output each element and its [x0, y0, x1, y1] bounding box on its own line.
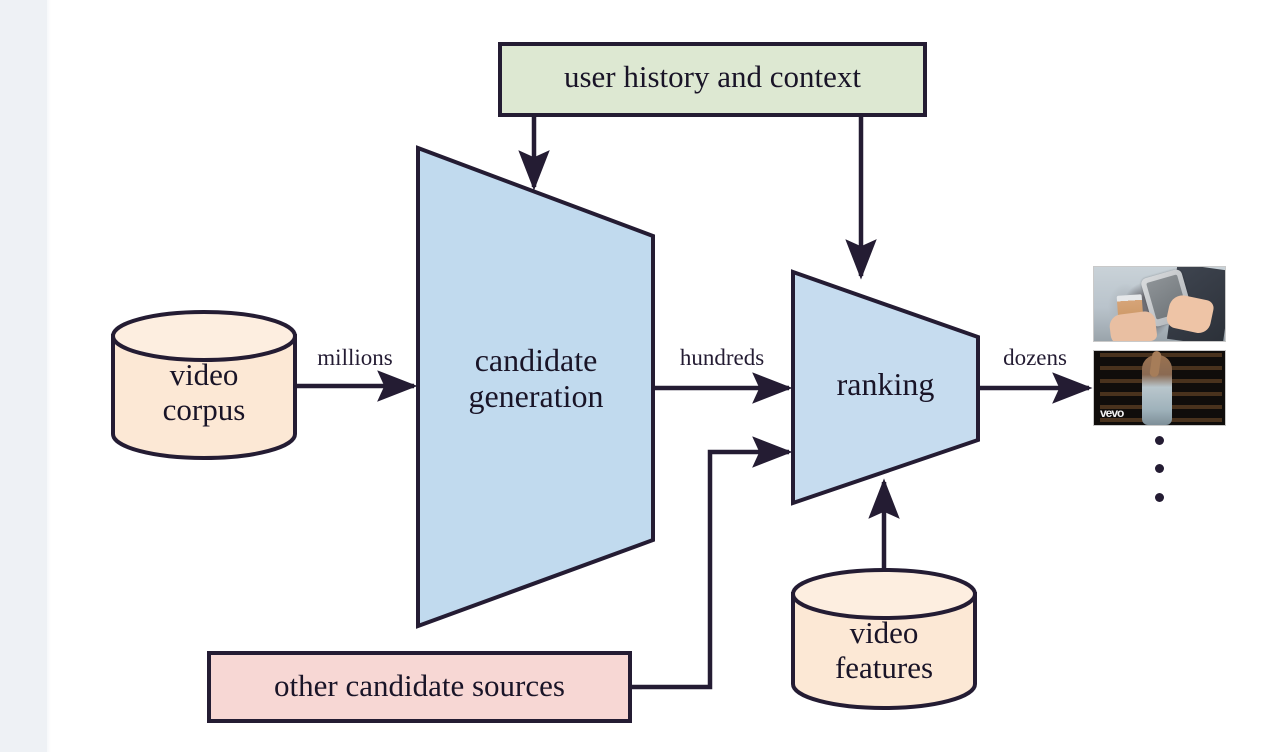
edge-label-millions: millions [297, 345, 413, 371]
edge-label-hundreds: hundreds [655, 345, 789, 371]
node-candidate-generation[interactable] [418, 148, 653, 626]
node-video-features[interactable] [793, 570, 975, 708]
node-user-history-and-context[interactable] [500, 44, 925, 115]
hands-holding-phone-and-coffee-thumbnail[interactable] [1093, 266, 1226, 342]
node-ranking[interactable] [793, 272, 978, 503]
more-results-dot [1155, 464, 1164, 473]
more-results-dot [1155, 493, 1164, 502]
edge-label-dozens: dozens [982, 345, 1088, 371]
vevo-music-video-thumbnail[interactable]: vevo [1093, 350, 1226, 426]
more-results-dot [1155, 436, 1164, 445]
vevo-watermark: vevo [1100, 406, 1123, 420]
node-video-corpus[interactable] [113, 312, 295, 458]
diagram-page: user history and context video corpus ca… [0, 0, 1286, 752]
node-other-candidate-sources[interactable] [209, 653, 630, 721]
thumbnail-left-hand-shape [1108, 310, 1157, 342]
